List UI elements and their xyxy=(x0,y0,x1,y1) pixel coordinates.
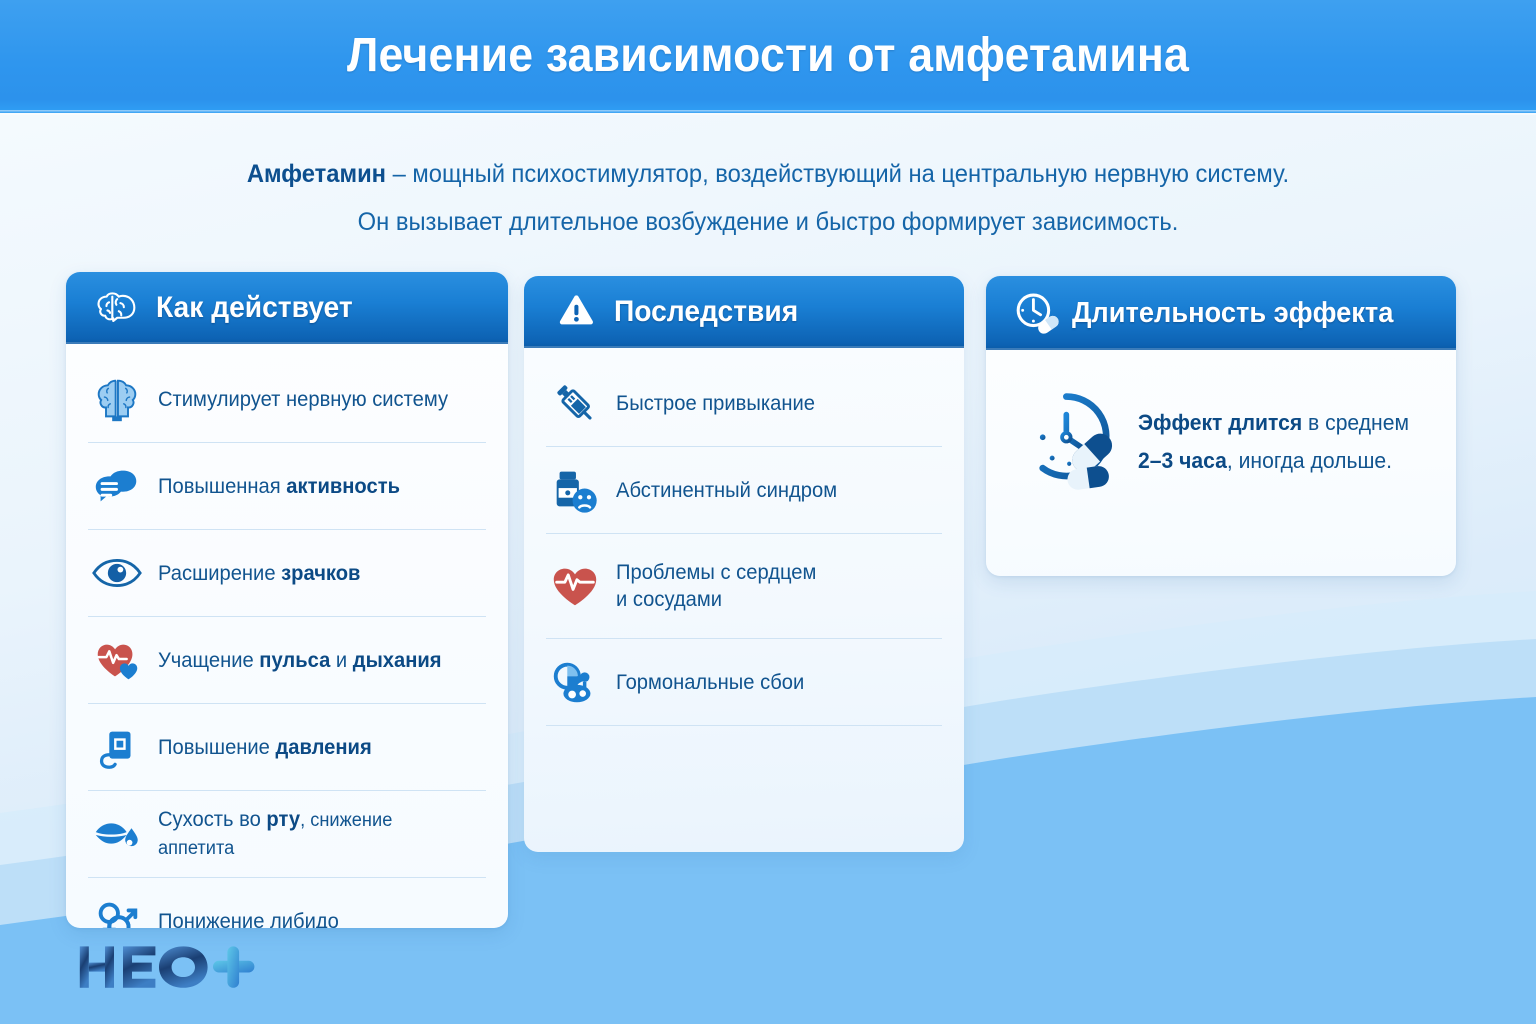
card-effect-duration: Длительность эффекта xyxy=(986,276,1456,576)
list-item: Абстинентный синдром xyxy=(546,447,942,534)
blood-pressure-monitor-icon xyxy=(88,718,146,776)
card-title-how-it-works: Как действует xyxy=(156,291,353,325)
speech-bubble-icon xyxy=(88,457,146,515)
page-title: Лечение зависимости от амфетамина xyxy=(54,28,1482,83)
list-item: Повышение давления xyxy=(88,704,486,791)
list-item-label-strong: активность xyxy=(286,475,400,498)
list-item-label: Повышение давления xyxy=(158,734,372,761)
list-item: Учащение пульса и дыхания xyxy=(88,617,486,704)
list-item: Расширение зрачков xyxy=(88,530,486,617)
heart-pulse-icon xyxy=(546,557,604,615)
card-consequences: Последствия xyxy=(524,276,964,852)
card-header-how-it-works: Как действует xyxy=(66,272,508,344)
intro-lead-word: Амфетамин xyxy=(247,160,386,188)
list-item-label-line2: и сосудами xyxy=(616,586,816,613)
clock-pills-large-icon xyxy=(1020,390,1124,494)
eye-icon xyxy=(88,544,146,602)
list-item-label-strong: зрачков xyxy=(281,562,360,585)
list-item: Быстрое привыкание xyxy=(546,360,942,447)
list-item: Стимулирует нервную систему xyxy=(88,356,486,443)
effect-duration-line-1: Эффект длится в среднем xyxy=(1138,404,1409,442)
list-item-label-pre: Повышенная xyxy=(158,475,286,498)
list-item-label-pre: Повышение xyxy=(158,736,275,759)
card-body-consequences: Быстрое привыкание Абстинентный с xyxy=(524,348,964,736)
brain-outline-icon xyxy=(92,284,144,332)
pill-bottle-sad-face-icon xyxy=(546,461,604,519)
effect-duration-strong-1: Эффект длится xyxy=(1138,410,1302,435)
list-item-label: Расширение зрачков xyxy=(158,560,360,587)
effect-duration-line-2: 2–3 часа, иногда дольше. xyxy=(1138,442,1409,480)
list-item-label-strong: давления xyxy=(275,736,371,759)
list-item-label: Быстрое привыкание xyxy=(616,390,815,417)
warning-triangle-icon xyxy=(550,288,602,336)
effect-duration-strong-2: 2–3 часа xyxy=(1138,448,1227,473)
card-header-consequences: Последствия xyxy=(524,276,964,348)
intro-line-1: Амфетамин – мощный психостимулятор, возд… xyxy=(151,150,1386,198)
list-item-label: Учащение пульса и дыхания xyxy=(158,647,442,674)
list-item: Повышенная активность xyxy=(88,443,486,530)
card-title-effect-duration: Длительность эффекта xyxy=(1072,297,1393,330)
list-item-label: Повышенная активность xyxy=(158,473,400,500)
effect-duration-rest-1: в среднем xyxy=(1302,410,1409,435)
intro-line-1-rest: – мощный психостимулятор, воздействующий… xyxy=(386,160,1289,188)
card-body-effect-duration: Эффект длится в среднем 2–3 часа, иногда… xyxy=(986,350,1456,516)
list-item: Гормональные сбои xyxy=(546,639,942,726)
list-item-label-strong: рту xyxy=(266,808,300,831)
card-how-it-works: Как действует Ст xyxy=(66,272,508,928)
clock-pills-icon xyxy=(1008,287,1066,339)
list-item: Проблемы с сердцем и сосудами xyxy=(546,534,942,639)
list-item-label-line1: Проблемы с сердцем xyxy=(616,559,816,586)
syringe-icon xyxy=(546,374,604,432)
infographic-canvas: Лечение зависимости от амфетамина Амфета… xyxy=(0,0,1536,1024)
brand-logo: НЕО+ xyxy=(78,940,258,996)
list-item-label: Гормональные сбои xyxy=(616,669,804,696)
effect-duration-text: Эффект длится в среднем 2–3 часа, иногда… xyxy=(1138,404,1409,480)
intro-line-2: Он вызывает длительное возбуждение и быс… xyxy=(151,198,1386,246)
dry-mouth-icon xyxy=(88,805,146,863)
effect-duration-content: Эффект длится в среднем 2–3 часа, иногда… xyxy=(1006,368,1436,498)
list-item-label: Сухость во рту, снижение аппетита xyxy=(158,806,473,862)
list-item-label-strong: пульса xyxy=(259,649,330,672)
hearts-pulse-icon xyxy=(88,631,146,689)
list-item-label-strong2: дыхания xyxy=(353,649,442,672)
list-item: Понижение либидо xyxy=(88,878,486,928)
list-item: Сухость во рту, снижение аппетита xyxy=(88,791,486,878)
list-item-label-pre: Сухость во xyxy=(158,808,266,831)
intro-text: Амфетамин – мощный психостимулятор, возд… xyxy=(151,150,1386,246)
brain-icon xyxy=(88,370,146,428)
list-item-label-mid: и xyxy=(330,649,352,672)
card-body-how-it-works: Стимулирует нервную систему Повышенная а xyxy=(66,344,508,928)
list-item-label: Проблемы с сердцем и сосудами xyxy=(616,559,816,613)
list-item-label: Стимулирует нервную систему xyxy=(158,386,448,413)
card-title-consequences: Последствия xyxy=(614,295,798,329)
list-item-label-pre: Учащение xyxy=(158,649,259,672)
hormones-molecule-icon xyxy=(546,653,604,711)
card-header-effect-duration: Длительность эффекта xyxy=(986,276,1456,350)
gender-symbols-icon xyxy=(88,892,146,928)
effect-duration-rest-2: , иногда дольше. xyxy=(1227,448,1392,473)
list-item-label: Понижение либидо xyxy=(158,908,339,929)
list-item-label: Абстинентный синдром xyxy=(616,477,837,504)
list-item-label-pre: Расширение xyxy=(158,562,281,585)
